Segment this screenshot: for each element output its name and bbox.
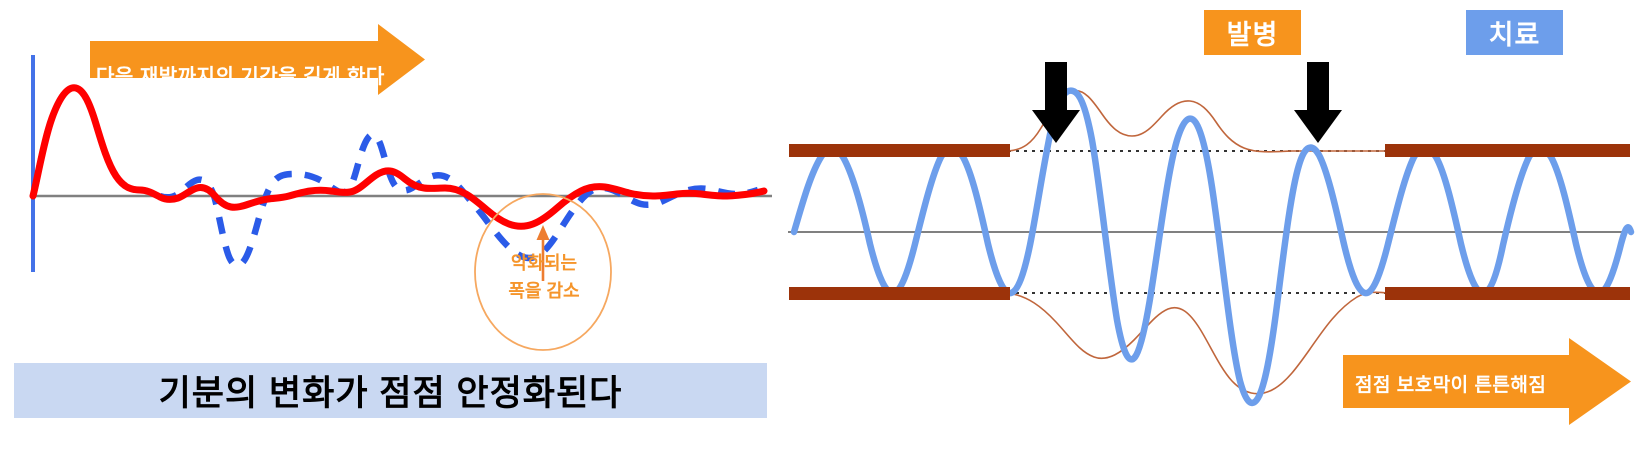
bottom-banner-text: 기분의 변화가 점점 안정화된다 (14, 363, 767, 418)
right-panel: 발병 치료 점점 보호막이 튼튼해짐 (780, 0, 1637, 452)
treatment-down-arrow (1294, 62, 1342, 143)
chip-treatment-label: 치료 (1489, 13, 1541, 52)
figure-root: 다음 재발까지의 기간을 길게 한다 악화되는 폭을 감소 기분의 변화가 점점… (0, 0, 1637, 452)
threshold-bar-upper-left (789, 144, 1010, 157)
callout-text-line2: 폭을 감소 (499, 282, 589, 301)
chip-onset[interactable]: 발병 (1204, 10, 1301, 55)
callout-text-line1: 악화되는 (499, 254, 589, 273)
threshold-bar-lower-right (1385, 287, 1630, 300)
left-panel: 다음 재발까지의 기간을 길게 한다 악화되는 폭을 감소 기분의 변화가 점점… (0, 0, 780, 452)
bottom-banner: 기분의 변화가 점점 안정화된다 (14, 363, 767, 418)
bottom-arrow-label: 점점 보호막이 튼튼해짐 (1355, 370, 1546, 397)
threshold-bar-lower-left (789, 287, 1010, 300)
chip-treatment[interactable]: 치료 (1466, 10, 1563, 55)
envelope-lower (1008, 292, 1387, 393)
series-treated-course (33, 88, 764, 227)
top-arrow-label: 다음 재발까지의 기간을 길게 한다 (96, 60, 385, 89)
threshold-bar-upper-right (1385, 144, 1630, 157)
chip-onset-label: 발병 (1227, 13, 1279, 52)
